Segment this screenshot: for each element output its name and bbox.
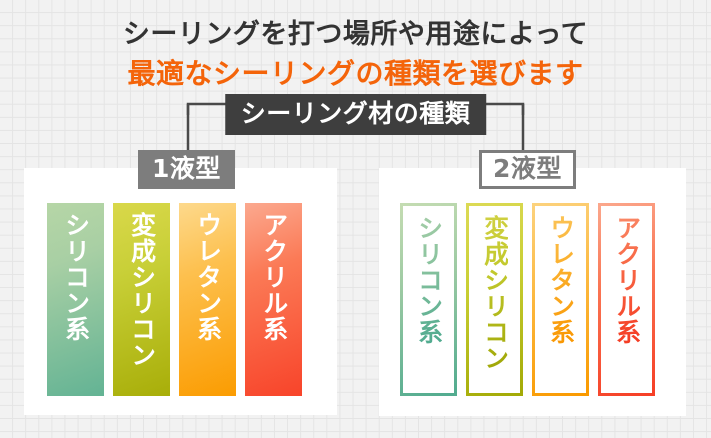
bar-label-urethane-1p: ウレタン系 <box>194 203 220 342</box>
badge-two-part-type: 2液型 <box>479 150 576 189</box>
headline-line-2: 最適なシーリングの種類を選びます <box>0 52 711 92</box>
badge-one-part-type: 1液型 <box>138 150 235 189</box>
bar-acrylic-1p[interactable]: アクリル系 <box>245 203 302 396</box>
headline-line-1: シーリングを打つ場所や用途によって <box>0 12 711 51</box>
bar-label-acrylic-1p: アクリル系 <box>260 203 286 342</box>
bar-list-one-part-type: シリコン系 変成シリコン ウレタン系 アクリル系 <box>47 203 302 396</box>
bar-list-two-part-type: シリコン系 変成シリコン ウレタン系 アクリル系 <box>400 203 655 396</box>
bar-label-urethane-2p: ウレタン系 <box>547 206 573 345</box>
bar-label-modified-silicone-2p: 変成シリコン <box>481 206 507 371</box>
bar-silicone-1p[interactable]: シリコン系 <box>47 203 104 396</box>
category-chip: シーリング材の種類 <box>225 94 487 135</box>
bar-urethane-2p[interactable]: ウレタン系 <box>532 203 589 396</box>
bar-label-acrylic-2p: アクリル系 <box>613 206 639 345</box>
bar-modified-silicone-1p[interactable]: 変成シリコン <box>113 203 170 396</box>
bar-modified-silicone-2p[interactable]: 変成シリコン <box>466 203 523 396</box>
bar-urethane-1p[interactable]: ウレタン系 <box>179 203 236 396</box>
bar-label-silicone-1p: シリコン系 <box>62 203 88 342</box>
bar-label-modified-silicone-1p: 変成シリコン <box>128 203 154 368</box>
bar-silicone-2p[interactable]: シリコン系 <box>400 203 457 396</box>
bar-label-silicone-2p: シリコン系 <box>415 206 441 345</box>
infographic-canvas: シーリングを打つ場所や用途によって 最適なシーリングの種類を選びます シーリング… <box>0 0 711 438</box>
bar-acrylic-2p[interactable]: アクリル系 <box>598 203 655 396</box>
